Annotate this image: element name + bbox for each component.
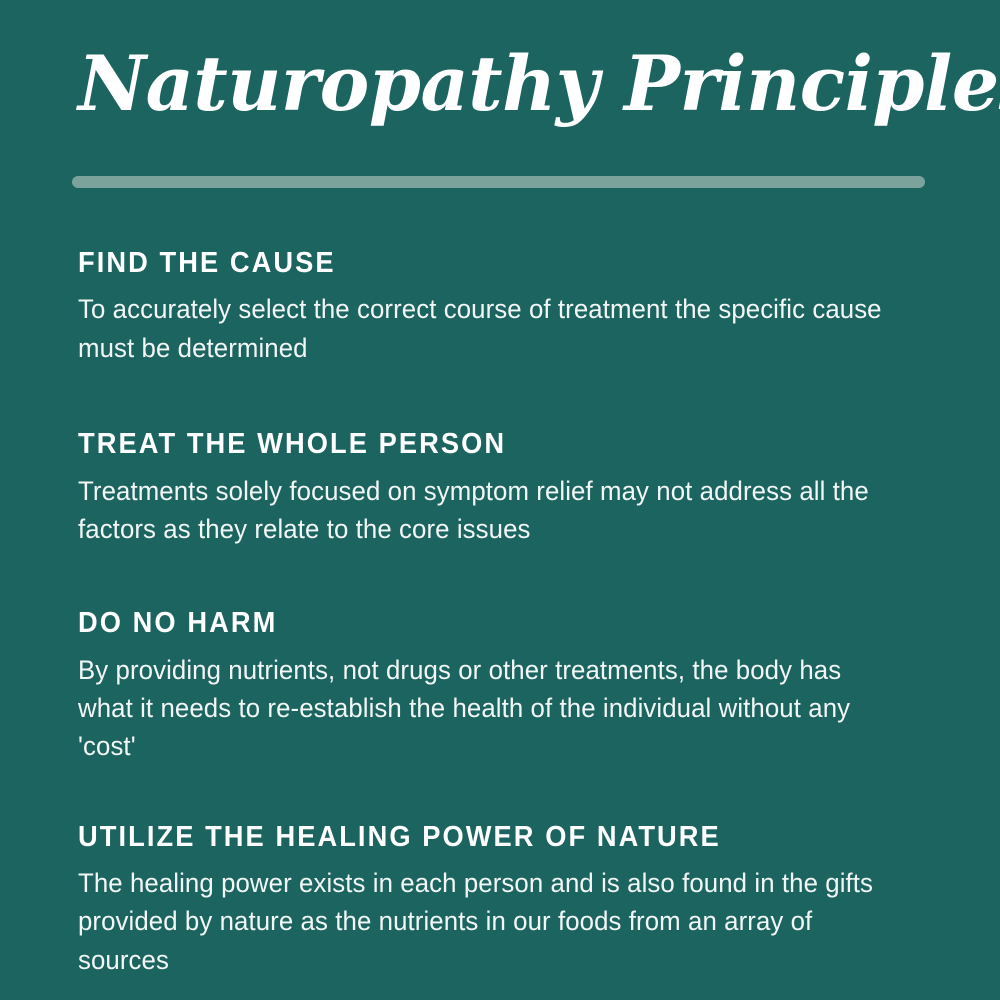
principle-heading-do-no-harm: DO NO HARM [78, 608, 879, 638]
principle-body-treat-the-whole-person: Treatments solely focused on symptom rel… [78, 472, 892, 549]
list-item: FIND THE CAUSE To accurately select the … [78, 248, 930, 367]
list-item: DO NO HARM By providing nutrients, not d… [78, 608, 930, 765]
principle-body-do-no-harm: By providing nutrients, not drugs or oth… [78, 651, 892, 766]
principle-heading-find-the-cause: FIND THE CAUSE [78, 248, 879, 278]
page-title: Naturopathy Principles [78, 46, 921, 122]
principle-heading-treat-the-whole-person: TREAT THE WHOLE PERSON [78, 429, 879, 459]
principle-body-utilize-the-healing-power-of-nature: The healing power exists in each person … [78, 864, 892, 979]
principle-heading-utilize-the-healing-power-of-nature: UTILIZE THE HEALING POWER OF NATURE [78, 822, 879, 852]
list-item: TREAT THE WHOLE PERSON Treatments solely… [78, 429, 930, 548]
title-block: Naturopathy Principles [78, 46, 938, 122]
principle-body-find-the-cause: To accurately select the correct course … [78, 290, 892, 367]
list-item: UTILIZE THE HEALING POWER OF NATURE The … [78, 822, 930, 979]
title-divider [72, 176, 925, 188]
principles-list: FIND THE CAUSE To accurately select the … [78, 248, 930, 979]
poster-canvas: Naturopathy Principles FIND THE CAUSE To… [0, 0, 1000, 1000]
